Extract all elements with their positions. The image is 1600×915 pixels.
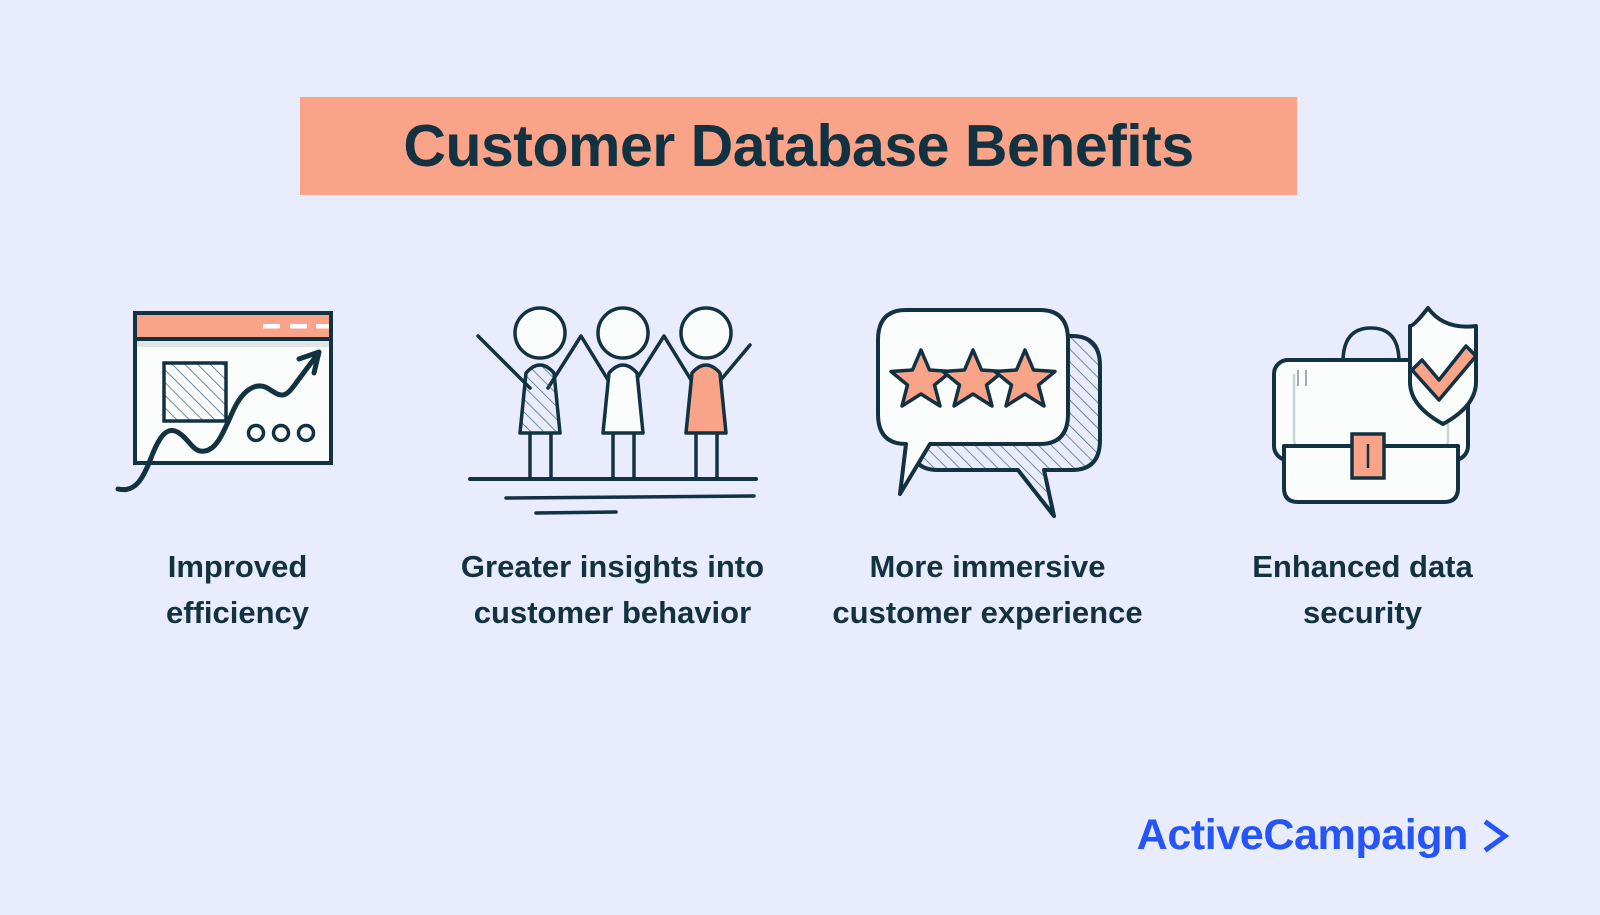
page-title: Customer Database Benefits [403,117,1193,176]
title-banner: Customer Database Benefits [300,97,1297,195]
three-people-group-icon [468,293,758,518]
benefit-caption-3: More immersive customer experience [832,544,1142,636]
benefit-icon-wrap-3 [868,280,1108,530]
benefit-caption-1: Improved efficiency [166,544,309,636]
benefit-caption-2: Greater insights into customer behavior [461,544,764,636]
chevron-right-icon [1482,819,1512,853]
infographic-canvas: Customer Database Benefits [0,0,1600,915]
benefit-item-1: Improved efficiency [60,280,415,636]
benefit-item-3: More immersive customer experience [810,280,1165,636]
activecampaign-logo[interactable]: ActiveCampaign [1137,814,1512,857]
benefit-caption-4: Enhanced data security [1252,544,1473,636]
benefit-item-2: Greater insights into customer behavior [435,280,790,636]
briefcase-shield-check-icon [1238,290,1488,520]
logo-wordmark: ActiveCampaign [1137,814,1468,857]
benefits-row: Improved efficiency [60,280,1540,636]
browser-chart-growth-icon [113,293,363,518]
benefit-icon-wrap-1 [113,280,363,530]
benefit-item-4: Enhanced data security [1185,280,1540,636]
benefit-icon-wrap-4 [1238,280,1488,530]
benefit-icon-wrap-2 [468,280,758,530]
speech-bubbles-three-stars-icon [868,288,1108,523]
